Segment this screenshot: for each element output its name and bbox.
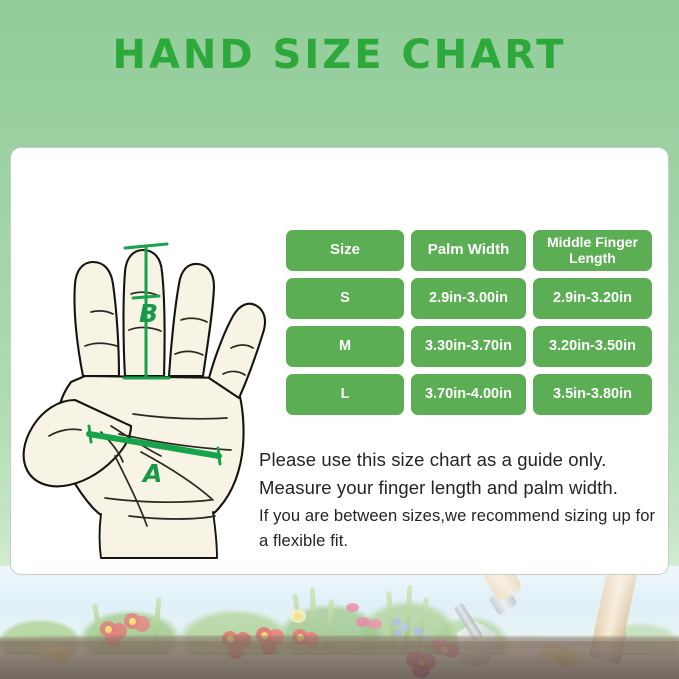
cell-size-m: M	[286, 326, 404, 367]
cell-middle-finger-length-l: 3.5in-3.80in	[533, 374, 652, 415]
size-table: Size Palm Width Middle Finger Length S 2…	[286, 230, 656, 422]
cell-size-l: L	[286, 374, 404, 415]
table-header-size: Size	[286, 230, 404, 271]
cell-middle-finger-length-s: 2.9in-3.20in	[533, 278, 652, 319]
soil-layer	[0, 641, 679, 679]
cell-palm-width-m: 3.30in-3.70in	[411, 326, 526, 367]
table-header-row: Size Palm Width Middle Finger Length	[286, 230, 656, 271]
measurement-label-a: A	[141, 459, 162, 488]
table-row: S 2.9in-3.00in 2.9in-3.20in	[286, 278, 656, 319]
table-row: M 3.30in-3.70in 3.20in-3.50in	[286, 326, 656, 367]
cell-middle-finger-length-m: 3.20in-3.50in	[533, 326, 652, 367]
hand-measurement-illustration: B A	[15, 170, 283, 560]
cell-size-s: S	[286, 278, 404, 319]
table-header-palm-width: Palm Width	[411, 230, 526, 271]
garden-photo-strip	[0, 566, 679, 679]
measurement-label-b: B	[139, 299, 158, 328]
size-chart-card: B A Size Palm Width Middle Finger Length…	[10, 147, 669, 575]
table-row: L 3.70in-4.00in 3.5in-3.80in	[286, 374, 656, 415]
cell-palm-width-l: 3.70in-4.00in	[411, 374, 526, 415]
note-line-2: Measure your finger length and palm widt…	[259, 474, 659, 502]
page-title: HAND SIZE CHART	[0, 32, 679, 78]
table-header-middle-finger-length: Middle Finger Length	[533, 230, 652, 271]
cell-palm-width-s: 2.9in-3.00in	[411, 278, 526, 319]
guidance-notes: Please use this size chart as a guide on…	[259, 446, 659, 553]
note-line-1: Please use this size chart as a guide on…	[259, 446, 659, 474]
note-line-3: If you are between sizes,we recommend si…	[259, 504, 659, 553]
